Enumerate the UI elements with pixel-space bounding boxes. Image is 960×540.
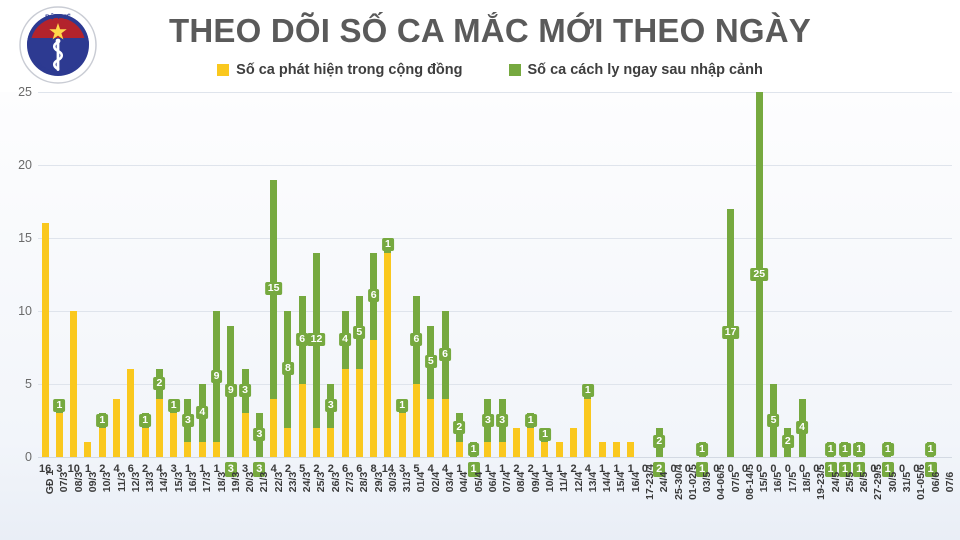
bar-segment-community[interactable]: [413, 384, 420, 457]
bar-column[interactable]: [552, 92, 566, 457]
bar-column[interactable]: 2: [781, 92, 795, 457]
bar-column[interactable]: 2: [152, 92, 166, 457]
x-axis-tick-cell: 31/3: [395, 480, 409, 538]
bar-column[interactable]: 1: [138, 92, 152, 457]
y-axis-tick: 15: [18, 231, 32, 245]
bar-value-chip: 3: [253, 428, 265, 441]
bar-column[interactable]: [566, 92, 580, 457]
bar-stack: 25: [756, 92, 763, 457]
bar-stack: 4: [199, 384, 206, 457]
bar-stack: 6: [370, 253, 377, 457]
x-axis-tick-cell: 01-02/5: [681, 480, 695, 538]
bar-stack: 1: [56, 399, 63, 457]
bar-segment-community[interactable]: [399, 413, 406, 457]
bar-column[interactable]: [595, 92, 609, 457]
bar-stack: [627, 442, 634, 457]
bar-segment-community[interactable]: [342, 369, 349, 457]
bar-value-chip: 6: [411, 333, 423, 346]
bar-stack: [113, 399, 120, 457]
bar-stack: 1: [99, 413, 106, 457]
bar-segment-community[interactable]: [427, 399, 434, 457]
bar-column[interactable]: [624, 92, 638, 457]
bar-column[interactable]: 1: [695, 92, 709, 457]
bar-stack: [70, 311, 77, 457]
bar-column[interactable]: 3: [252, 92, 266, 457]
bar-column[interactable]: 3: [324, 92, 338, 457]
x-axis-tick-cell: 31/5: [895, 480, 909, 538]
x-axis-tick-cell: 03/4: [438, 480, 452, 538]
bar-segment-community[interactable]: [484, 442, 491, 457]
x-axis-tick-cell: 17-23/4: [638, 480, 652, 538]
x-axis-tick-cell: 14/4: [595, 480, 609, 538]
bar-value-chip: 1: [139, 414, 151, 427]
bar-segment-community[interactable]: [142, 428, 149, 457]
x-axis-tick-cell: 07/6: [938, 480, 952, 538]
bar-value-chip: 3: [482, 414, 494, 427]
x-axis-tick-cell: 04/4: [452, 480, 466, 538]
legend-label-community: Số ca phát hiện trong cộng đồng: [236, 62, 462, 78]
bar-column[interactable]: 15: [267, 92, 281, 457]
x-axis-tick-cell: 18/5: [795, 480, 809, 538]
bar-stack: [570, 428, 577, 457]
bar-stack: [84, 442, 91, 457]
bar-value-chip: 1: [853, 443, 865, 456]
x-axis-tick-cell: 13/4: [581, 480, 595, 538]
bar-stack: 1: [699, 442, 706, 457]
bar-stack: 3: [242, 369, 249, 457]
x-axis-tick-cell: 28/3: [352, 480, 366, 538]
x-axis-tick-cell: 24/5: [823, 480, 837, 538]
bar-stack: 3: [327, 384, 334, 457]
bar-value-chip: 1: [539, 428, 551, 441]
x-axis-tick-cell: 16/3: [181, 480, 195, 538]
bar-column[interactable]: 1: [823, 92, 837, 457]
x-axis-tick-cell: 26/3: [324, 480, 338, 538]
bar-column[interactable]: 6: [295, 92, 309, 457]
bar-column[interactable]: 17: [724, 92, 738, 457]
plot-area: 0510152025 11121349933158612345611656213…: [0, 92, 960, 540]
x-axis-tick-cell: 08/4: [509, 480, 523, 538]
x-axis-tick-cell: 12/4: [566, 480, 580, 538]
x-axis-tick-cell: 09/4: [524, 480, 538, 538]
x-axis-tick-cell: 27-29/5: [866, 480, 880, 538]
bar-value-chip: 6: [439, 348, 451, 361]
legend-item-quarantine[interactable]: Số ca cách ly ngay sau nhập cảnh: [509, 62, 763, 78]
bar-column[interactable]: 1: [395, 92, 409, 457]
bar-stack: 1: [142, 413, 149, 457]
bar-value-chip: 8: [282, 362, 294, 375]
bar-column[interactable]: [109, 92, 123, 457]
x-axis-tick-cell: 06/4: [481, 480, 495, 538]
bar-column[interactable]: [895, 92, 909, 457]
x-axis-tick-cell: 01-05/6: [909, 480, 923, 538]
bar-stack: 6: [413, 296, 420, 457]
bar-column[interactable]: 5: [766, 92, 780, 457]
bar-value-chip: 5: [353, 326, 365, 339]
x-axis-tick-cell: 04-06/5: [709, 480, 723, 538]
x-axis-tick-cell: 07/4: [495, 480, 509, 538]
bar-stack: [556, 442, 563, 457]
x-axis-tick-cell: 13/3: [138, 480, 152, 538]
bar-segment-community[interactable]: [541, 442, 548, 457]
bar-column[interactable]: [666, 92, 680, 457]
bar-value-chip: 9: [225, 384, 237, 397]
bar-segment-community[interactable]: [127, 369, 134, 457]
bar-value-chip: 5: [768, 414, 780, 427]
bar-stack: 9: [213, 311, 220, 457]
bar-column[interactable]: 3: [181, 92, 195, 457]
bar-value-chip: 1: [396, 399, 408, 412]
bar-segment-community[interactable]: [570, 428, 577, 457]
bar-stack: 9: [227, 326, 234, 457]
bar-column[interactable]: 1: [52, 92, 66, 457]
bar-stack: 12: [313, 253, 320, 457]
bar-stack: 6: [299, 296, 306, 457]
bar-stack: [599, 442, 606, 457]
y-axis-tick: 25: [18, 85, 32, 99]
legend-swatch-quarantine: [509, 64, 521, 76]
bar-column[interactable]: 1: [881, 92, 895, 457]
bar-column[interactable]: 8: [281, 92, 295, 457]
bar-value-chip: 2: [453, 421, 465, 434]
y-axis-tick: 10: [18, 304, 32, 318]
bar-column[interactable]: [609, 92, 623, 457]
bar-column[interactable]: [38, 92, 52, 457]
bar-column[interactable]: 1: [838, 92, 852, 457]
bar-column[interactable]: 1: [581, 92, 595, 457]
x-axis-tick-cell: 11/4: [552, 480, 566, 538]
bar-segment-community[interactable]: [327, 428, 334, 457]
bar-column[interactable]: [81, 92, 95, 457]
bar-column[interactable]: 9: [224, 92, 238, 457]
bar-segment-community[interactable]: [513, 428, 520, 457]
bar-column[interactable]: 6: [366, 92, 380, 457]
bar-column[interactable]: [124, 92, 138, 457]
bar-stack: 3: [256, 413, 263, 457]
bar-segment-community[interactable]: [242, 413, 249, 457]
bar-value-chip: 2: [653, 435, 665, 448]
x-axis-tick-label: 07/6: [945, 472, 956, 492]
x-axis-tick-cell: 06/6: [923, 480, 937, 538]
x-axis-tick-cell: 30/3: [381, 480, 395, 538]
x-axis-tick-cell: 19/3: [224, 480, 238, 538]
bar-stack: 15: [270, 180, 277, 457]
bar-stack: 1: [856, 442, 863, 457]
bar-value-chip: 1: [96, 414, 108, 427]
x-axis-tick-cell: 09/3: [81, 480, 95, 538]
bar-stack: 1: [170, 399, 177, 457]
x-axis-tick-cell: 29/3: [366, 480, 380, 538]
bar-value-chip: 1: [582, 384, 594, 397]
legend-item-community[interactable]: Số ca phát hiện trong cộng đồng: [217, 62, 462, 78]
chart-header: BỘ Y TẾ MINISTRY OF HEALTH THEO DÕI SỐ C…: [0, 0, 960, 92]
bar-segment-community[interactable]: [70, 311, 77, 457]
bar-column[interactable]: 4: [195, 92, 209, 457]
bar-segment-community[interactable]: [299, 384, 306, 457]
bar-stack: 1: [541, 428, 548, 457]
bar-stack: 4: [342, 311, 349, 457]
bar-stack: 5: [770, 384, 777, 457]
bar-column[interactable]: [67, 92, 81, 457]
x-axis-tick-cell: 27/3: [338, 480, 352, 538]
y-axis-tick: 20: [18, 158, 32, 172]
x-axis-tick-cell: 10/4: [538, 480, 552, 538]
x-axis-tick-cell: 16/5: [766, 480, 780, 538]
x-axis-tick-cell: 12/3: [124, 480, 138, 538]
x-axis-tick-cell: 23/3: [281, 480, 295, 538]
bar-segment-community[interactable]: [599, 442, 606, 457]
bar-column[interactable]: 25: [752, 92, 766, 457]
x-axis-tick-cell: 07/3: [52, 480, 66, 538]
bar-stack: [613, 442, 620, 457]
x-axis-tick-cell: 01/4: [409, 480, 423, 538]
bar-segment-community[interactable]: [170, 413, 177, 457]
bar-stack: 1: [399, 399, 406, 457]
bar-column[interactable]: 4: [795, 92, 809, 457]
bar-segment-community[interactable]: [356, 369, 363, 457]
bar-stack: 1: [384, 238, 391, 457]
bar-value-chip: 1: [839, 443, 851, 456]
bar-stack: 3: [499, 399, 506, 457]
bar-column[interactable]: [938, 92, 952, 457]
x-axis-tick-cell: 25-30/4: [666, 480, 680, 538]
x-axis-tick-cell: 08-14/5: [738, 480, 752, 538]
bar-value-chip: 1: [468, 443, 480, 456]
bar-column[interactable]: 1: [538, 92, 552, 457]
bar-column[interactable]: 1: [381, 92, 395, 457]
bar-stack: 1: [841, 442, 848, 457]
bar-segment-community[interactable]: [456, 442, 463, 457]
bar-segment-community[interactable]: [113, 399, 120, 457]
x-axis-tick-cell: 19-23/5: [809, 480, 823, 538]
legend-swatch-community: [217, 64, 229, 76]
bar-column[interactable]: [638, 92, 652, 457]
bar-column[interactable]: 2: [652, 92, 666, 457]
bar-column[interactable]: 2: [452, 92, 466, 457]
bar-column[interactable]: 4: [338, 92, 352, 457]
bar-value-chip: 2: [153, 377, 165, 390]
bar-column[interactable]: 6: [438, 92, 452, 457]
bar-column[interactable]: [709, 92, 723, 457]
bar-column[interactable]: [509, 92, 523, 457]
page-title: THEO DÕI SỐ CA MẮC MỚI THEO NGÀY: [140, 10, 840, 52]
bar-segment-community[interactable]: [613, 442, 620, 457]
bar-stack: 3: [184, 399, 191, 457]
x-axis-tick-cell: 18/3: [209, 480, 223, 538]
x-axis-tick-cell: 11/3: [109, 480, 123, 538]
bar-segment-community[interactable]: [627, 442, 634, 457]
bar-stack: 5: [356, 296, 363, 457]
bar-stack: 1: [827, 442, 834, 457]
bar-value-chip: 1: [168, 399, 180, 412]
bar-column[interactable]: [681, 92, 695, 457]
x-axis-tick-cell: 05/4: [466, 480, 480, 538]
bar-segment-community[interactable]: [270, 399, 277, 457]
bar-series-group: 1112134993315861234561165621331112117255…: [38, 92, 952, 457]
bar-value-chip: 3: [182, 414, 194, 427]
bar-value-chip: 6: [296, 333, 308, 346]
y-axis-tick: 0: [25, 450, 32, 464]
x-axis-tick-cell: 25/3: [309, 480, 323, 538]
x-axis-tick-cell: 15/5: [752, 480, 766, 538]
bar-stack: 1: [927, 442, 934, 457]
bar-stack: 1: [584, 384, 591, 457]
bar-segment-community[interactable]: [584, 399, 591, 457]
bar-segment-community[interactable]: [556, 442, 563, 457]
bar-column[interactable]: [866, 92, 880, 457]
bar-column[interactable]: [909, 92, 923, 457]
bar-stack: 17: [727, 209, 734, 457]
bar-stack: 2: [656, 428, 663, 457]
bar-stack: 6: [442, 311, 449, 457]
x-axis-tick-cell: 07/5: [724, 480, 738, 538]
bar-segment-community[interactable]: [370, 340, 377, 457]
x-axis-tick-cell: 22/3: [267, 480, 281, 538]
bar-segment-community[interactable]: [99, 428, 106, 457]
bar-value-chip: 1: [696, 443, 708, 456]
bar-segment-community[interactable]: [184, 442, 191, 457]
x-axis-tick-cell: 16/4: [624, 480, 638, 538]
bar-value-chip: 1: [825, 443, 837, 456]
bar-segment-community[interactable]: [284, 428, 291, 457]
bar-segment-community[interactable]: [56, 413, 63, 457]
ministry-of-health-vietnam-logo: BỘ Y TẾ MINISTRY OF HEALTH: [18, 5, 98, 85]
bar-value-chip: 3: [239, 384, 251, 397]
bar-value-chip: 1: [54, 399, 66, 412]
bar-segment-community[interactable]: [499, 442, 506, 457]
bar-stack: 4: [799, 399, 806, 457]
bar-column[interactable]: 3: [481, 92, 495, 457]
x-axis-tick-cell: 15/3: [167, 480, 181, 538]
x-axis-tick-cell: 25/5: [838, 480, 852, 538]
bar-column[interactable]: 12: [309, 92, 323, 457]
x-axis-tick-cell: 17/5: [781, 480, 795, 538]
bar-stack: 1: [527, 413, 534, 457]
bar-stack: 5: [427, 326, 434, 457]
bar-segment-community[interactable]: [84, 442, 91, 457]
bar-stack: 8: [284, 311, 291, 457]
bar-value-chip: 1: [925, 443, 937, 456]
bar-segment-community[interactable]: [313, 428, 320, 457]
x-axis-tick-cell: 20/3: [238, 480, 252, 538]
bar-value-chip: 3: [325, 399, 337, 412]
x-axis-tick-cell: 03/5: [695, 480, 709, 538]
bar-column[interactable]: 1: [167, 92, 181, 457]
bar-value-chip: 4: [796, 421, 808, 434]
bar-column[interactable]: 1: [852, 92, 866, 457]
bar-segment-community[interactable]: [199, 442, 206, 457]
x-axis-tick-cell: 10/3: [95, 480, 109, 538]
chart-screenshot: BỘ Y TẾ MINISTRY OF HEALTH THEO DÕI SỐ C…: [0, 0, 960, 540]
bar-value-chip: 1: [382, 238, 394, 251]
bar-value-chip: 2: [782, 435, 794, 448]
bar-segment-community[interactable]: [384, 253, 391, 457]
bar-stack: 1: [470, 442, 477, 457]
bar-segment-community[interactable]: [42, 223, 49, 457]
bar-column[interactable]: 1: [95, 92, 109, 457]
bar-stack: [513, 428, 520, 457]
bar-column[interactable]: [809, 92, 823, 457]
bar-value-chip: 9: [211, 370, 223, 383]
y-axis: 0510152025: [0, 92, 38, 457]
bar-value-chip: 4: [339, 333, 351, 346]
bar-value-chip: 5: [425, 355, 437, 368]
bar-segment-community[interactable]: [156, 399, 163, 457]
bar-value-chip: 6: [368, 289, 380, 302]
bar-stack: 2: [784, 428, 791, 457]
x-axis-tick-cell: 15/4: [609, 480, 623, 538]
bar-stack: 2: [156, 369, 163, 457]
x-axis-tick-cell: 24/3: [295, 480, 309, 538]
bar-segment-community[interactable]: [527, 428, 534, 457]
x-axis-tick-cell: 24/4: [652, 480, 666, 538]
bar-value-chip: 1: [882, 443, 894, 456]
x-axis: GĐ 107/308/309/310/311/312/313/314/315/3…: [38, 480, 952, 538]
bar-column[interactable]: 9: [209, 92, 223, 457]
x-axis-tick-cell: 14/3: [152, 480, 166, 538]
bar-segment-community[interactable]: [213, 442, 220, 457]
bar-column[interactable]: 1: [923, 92, 937, 457]
bar-column[interactable]: 1: [524, 92, 538, 457]
bar-stack: 3: [484, 399, 491, 457]
bar-stack: [42, 223, 49, 457]
bar-stack: 2: [456, 413, 463, 457]
x-axis-tick-cell: 21/3: [252, 480, 266, 538]
bar-column[interactable]: 6: [409, 92, 423, 457]
x-axis-tick-cell: 26/5: [852, 480, 866, 538]
bar-stack: 1: [884, 442, 891, 457]
chart-legend: Số ca phát hiện trong cộng đồng Số ca cá…: [140, 62, 840, 78]
x-axis-tick-cell: 17/3: [195, 480, 209, 538]
bar-stack: [127, 369, 134, 457]
bar-column[interactable]: 1: [466, 92, 480, 457]
bar-segment-community[interactable]: [442, 399, 449, 457]
x-axis-tick-cell: 30/5: [881, 480, 895, 538]
bar-value-chip: 4: [196, 406, 208, 419]
y-axis-tick: 5: [25, 377, 32, 391]
bar-column[interactable]: 5: [352, 92, 366, 457]
bar-column[interactable]: 5: [424, 92, 438, 457]
x-axis-tick-cell: 08/3: [67, 480, 81, 538]
bar-column[interactable]: 3: [238, 92, 252, 457]
legend-label-quarantine: Số ca cách ly ngay sau nhập cảnh: [528, 62, 763, 78]
bar-column[interactable]: 3: [495, 92, 509, 457]
x-axis-tick-cell: 02/4: [424, 480, 438, 538]
x-axis-tick-cell: GĐ 1: [38, 480, 52, 538]
bar-value-chip: 1: [525, 414, 537, 427]
bar-value-chip: 3: [496, 414, 508, 427]
